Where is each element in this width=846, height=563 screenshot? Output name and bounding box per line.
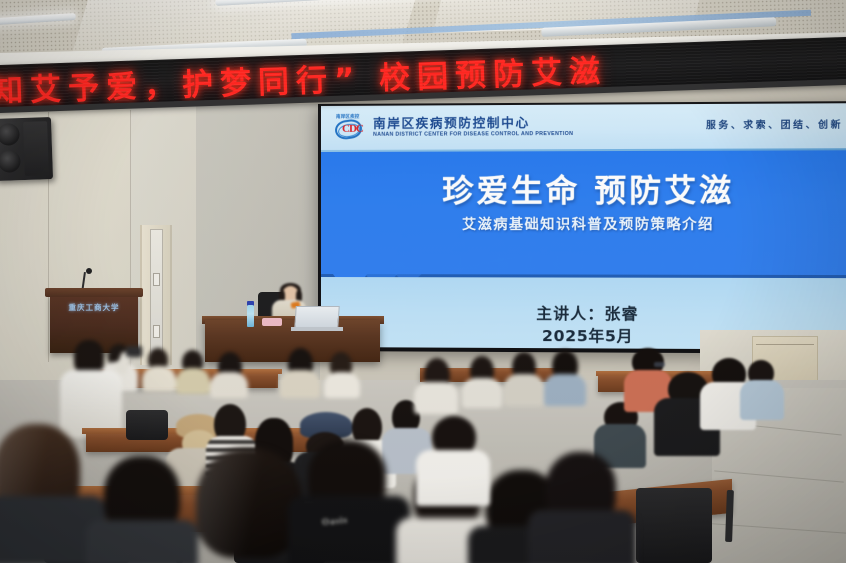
podium-microphone-icon: [86, 268, 92, 274]
lecture-hall-photo: 南岸区疾控 CDC 南岸区疾病预防控制中心 NANAN DISTRICT CEN…: [0, 0, 846, 563]
smartphone-icon: [126, 346, 142, 357]
presenter-laptop: [294, 306, 340, 328]
cdc-logo-icon: 南岸区疾控 CDC: [333, 115, 367, 141]
pa-speaker-icon: [0, 117, 53, 181]
wall-panel-line: [756, 344, 814, 345]
org-slogan: 服务、求索、团结、创新: [706, 117, 843, 132]
audience-body: [176, 368, 210, 394]
podium-top-surface: [45, 288, 143, 297]
seat-back: [636, 488, 712, 563]
podium-institution-label: 重庆工商大学: [50, 302, 138, 313]
projection-screen: 南岸区疾控 CDC 南岸区疾病预防控制中心 NANAN DISTRICT CEN…: [318, 101, 846, 354]
notebook-on-desk: [262, 318, 282, 326]
audience-body: [324, 372, 360, 398]
speaker-grill: [23, 121, 49, 176]
audience-body: [86, 520, 198, 563]
tile-line: [714, 470, 844, 482]
slide-header: 南岸区疾控 CDC 南岸区疾病预防控制中心 NANAN DISTRICT CEN…: [321, 103, 846, 150]
org-name-en: NANAN DISTRICT CENTER FOR DISEASE CONTRO…: [373, 132, 573, 138]
audience-body: [528, 510, 636, 563]
side-door[interactable]: [140, 225, 172, 365]
door-handle[interactable]: [153, 325, 160, 338]
audience-body: [544, 374, 586, 406]
seat-back: [126, 410, 168, 440]
audience-body: [210, 372, 248, 398]
eyeglasses-icon: [654, 362, 665, 367]
audience-body: [280, 370, 320, 398]
audience-body: [462, 378, 502, 408]
speaker-cone: [0, 123, 20, 146]
slide-title: 珍爱生命 预防艾滋: [321, 165, 846, 211]
audience-body: [414, 382, 458, 414]
org-name-block: 南岸区疾病预防控制中心 NANAN DISTRICT CENTER FOR DI…: [373, 116, 573, 138]
audience-body: [142, 366, 176, 392]
speaker-cone: [0, 150, 21, 173]
cdc-logo-abbr: CDC: [342, 123, 363, 135]
door-handle[interactable]: [153, 273, 160, 286]
audience-body: [740, 380, 784, 420]
audience-body: [416, 450, 490, 506]
presentation-slide: 南岸区疾控 CDC 南岸区疾病预防控制中心 NANAN DISTRICT CEN…: [321, 103, 846, 350]
water-bottle: [247, 305, 254, 327]
hair-highlight: [196, 448, 302, 558]
audience-head: [196, 448, 302, 558]
audience-body-graphic-tee: [288, 496, 410, 563]
slide-presenter: 主讲人：张睿: [321, 301, 846, 325]
door-glass-panel: [150, 229, 163, 361]
org-name-cn: 南岸区疾病预防控制中心: [373, 116, 573, 129]
slide-subtitle: 艾滋病基础知识科普及预防策略介绍: [321, 214, 846, 234]
audience-body: [504, 374, 544, 406]
presenter-laptop-base: [291, 327, 343, 331]
